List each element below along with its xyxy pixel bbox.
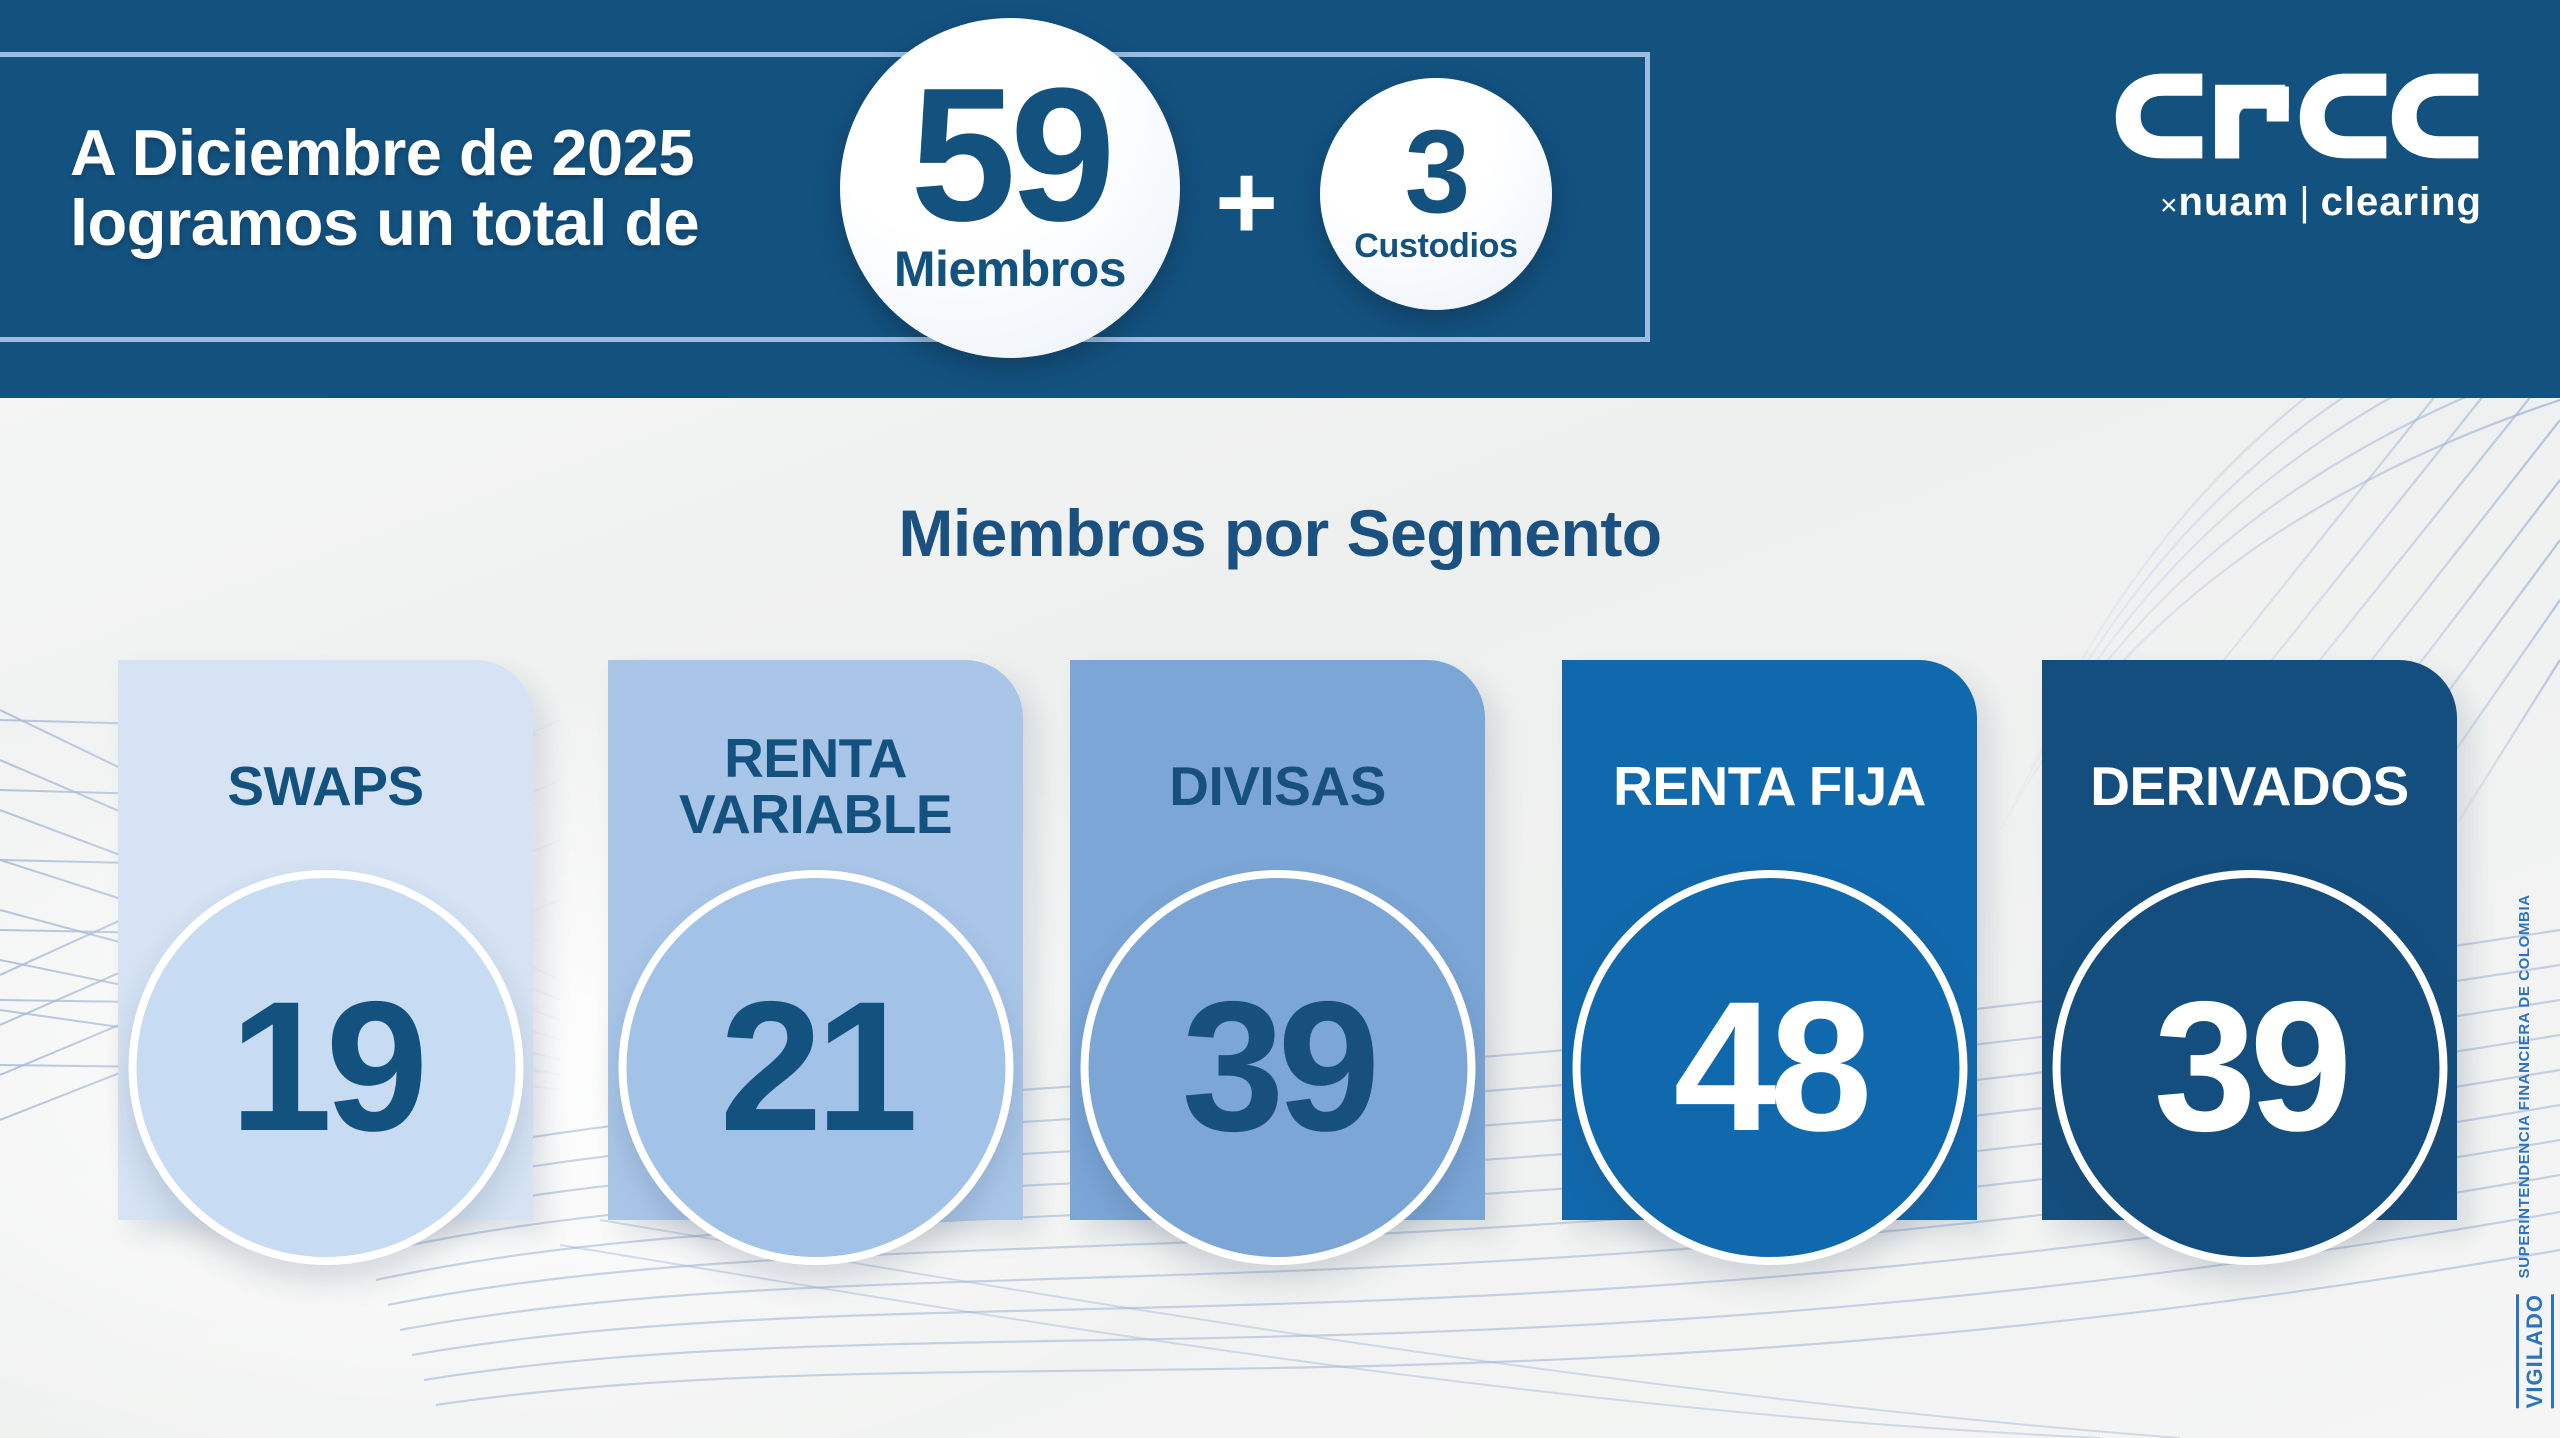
header-headline: A Diciembre de 2025 logramos un total de <box>70 118 870 258</box>
vigilado-notice: VIGILADO SUPERINTENDENCIA FINANCIERA DE … <box>2516 894 2554 1408</box>
segment-card-label: RENTA FIJA <box>1562 758 1977 814</box>
badge-custodios-label: Custodios <box>1354 227 1518 266</box>
segment-card-circle: 39 <box>1080 870 1475 1265</box>
vigilado-authority: SUPERINTENDENCIA FINANCIERA DE COLOMBIA <box>2516 894 2535 1278</box>
logo-tagline-product: clearing <box>2321 180 2482 224</box>
segment-card-value: 48 <box>1674 975 1866 1160</box>
badge-miembros-value: 59 <box>910 78 1109 234</box>
logo-tagline-prefix: × <box>2160 189 2179 222</box>
segment-card-value: 39 <box>2154 975 2346 1160</box>
segment-card-divisas[interactable]: DIVISAS 39 <box>1070 660 1485 1220</box>
segment-card-circle: 48 <box>1572 870 1967 1265</box>
header-headline-line-1: A Diciembre de 2025 <box>70 118 870 188</box>
segment-card-label: DERIVADOS <box>2042 758 2457 814</box>
segment-card-value: 19 <box>230 975 422 1160</box>
segment-card-label: SWAPS <box>118 758 533 814</box>
header-band: A Diciembre de 2025 logramos un total de… <box>0 0 2560 398</box>
vigilado-label: VIGILADO <box>2516 1294 2554 1408</box>
segment-card-renta-fija[interactable]: RENTA FIJA 48 <box>1562 660 1977 1220</box>
logo-tagline-brand: nuam <box>2179 180 2290 224</box>
logo-tagline: ×nuam|clearing <box>2114 180 2482 225</box>
infographic-canvas: A Diciembre de 2025 logramos un total de… <box>0 0 2560 1438</box>
segment-card-value: 21 <box>720 975 912 1160</box>
segment-card-value: 39 <box>1182 975 1374 1160</box>
segment-cards: SWAPS 19 RENTA VARIABLE 21 DIVISAS 39 <box>0 660 2560 1420</box>
crcc-wordmark-icon <box>2114 70 2482 162</box>
segment-card-derivados[interactable]: DERIVADOS 39 <box>2042 660 2457 1220</box>
badge-custodios: 3 Custodios <box>1320 78 1552 310</box>
segment-card-swaps[interactable]: SWAPS 19 <box>118 660 533 1220</box>
segment-card-circle: 39 <box>2052 870 2447 1265</box>
logo-tagline-divider: | <box>2289 180 2320 225</box>
segment-card-label: DIVISAS <box>1070 758 1485 814</box>
plus-icon: + <box>1215 148 1278 256</box>
badge-miembros: 59 Miembros <box>840 18 1180 358</box>
segment-card-circle: 19 <box>128 870 523 1265</box>
segment-card-label: RENTA VARIABLE <box>608 730 1023 842</box>
page-title: Miembros por Segmento <box>0 495 2560 571</box>
segment-card-renta-variable[interactable]: RENTA VARIABLE 21 <box>608 660 1023 1220</box>
header-headline-line-2: logramos un total de <box>70 188 870 258</box>
badge-miembros-label: Miembros <box>894 240 1126 298</box>
segment-card-circle: 21 <box>618 870 1013 1265</box>
crcc-logo: ×nuam|clearing <box>2114 70 2482 225</box>
badge-custodios-value: 3 <box>1405 122 1468 222</box>
